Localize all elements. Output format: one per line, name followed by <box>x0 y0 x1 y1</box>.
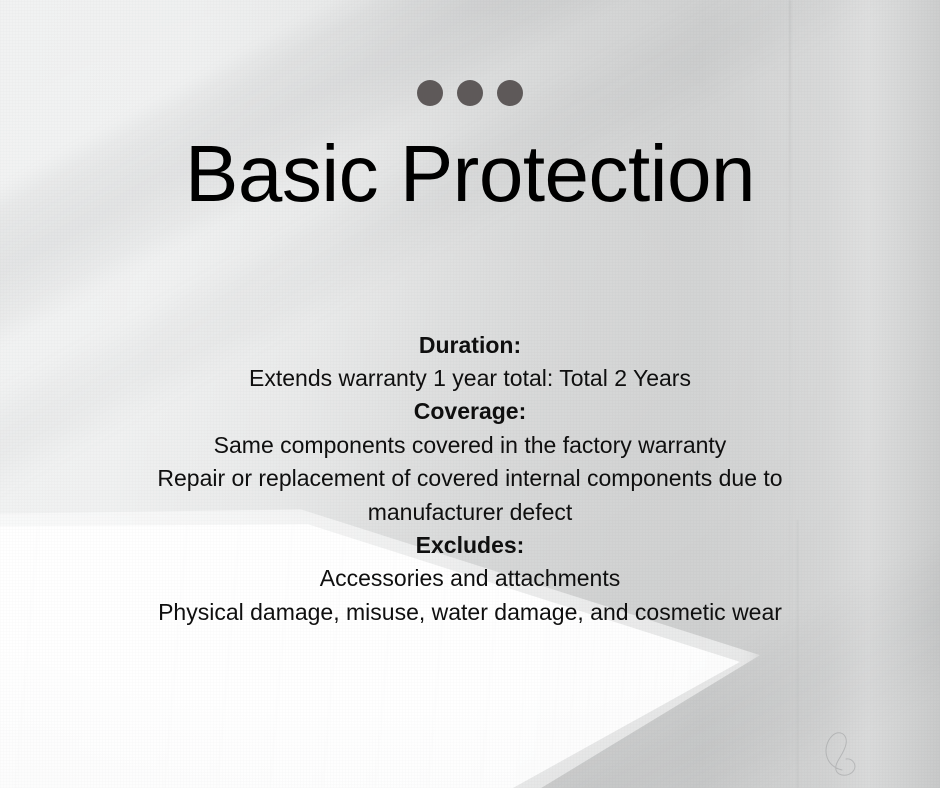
detail-text-coverage-2: Repair or replacement of covered interna… <box>120 462 820 529</box>
detail-text-duration: Extends warranty 1 year total: Total 2 Y… <box>120 362 820 395</box>
three-dots-decoration <box>417 80 523 106</box>
decoration-dot-icon <box>417 80 443 106</box>
details-block: Duration: Extends warranty 1 year total:… <box>120 329 820 630</box>
detail-text-excludes-1: Accessories and attachments <box>120 562 820 595</box>
slide-content: Basic Protection Duration: Extends warra… <box>0 0 940 788</box>
decoration-dot-icon <box>497 80 523 106</box>
detail-text-coverage-1: Same components covered in the factory w… <box>120 429 820 462</box>
page-title: Basic Protection <box>185 134 755 214</box>
detail-heading-coverage: Coverage: <box>120 395 820 428</box>
detail-heading-excludes: Excludes: <box>120 529 820 562</box>
slide-canvas: Basic Protection Duration: Extends warra… <box>0 0 940 788</box>
decoration-dot-icon <box>457 80 483 106</box>
detail-heading-duration: Duration: <box>120 329 820 362</box>
detail-text-excludes-2: Physical damage, misuse, water damage, a… <box>120 596 820 629</box>
